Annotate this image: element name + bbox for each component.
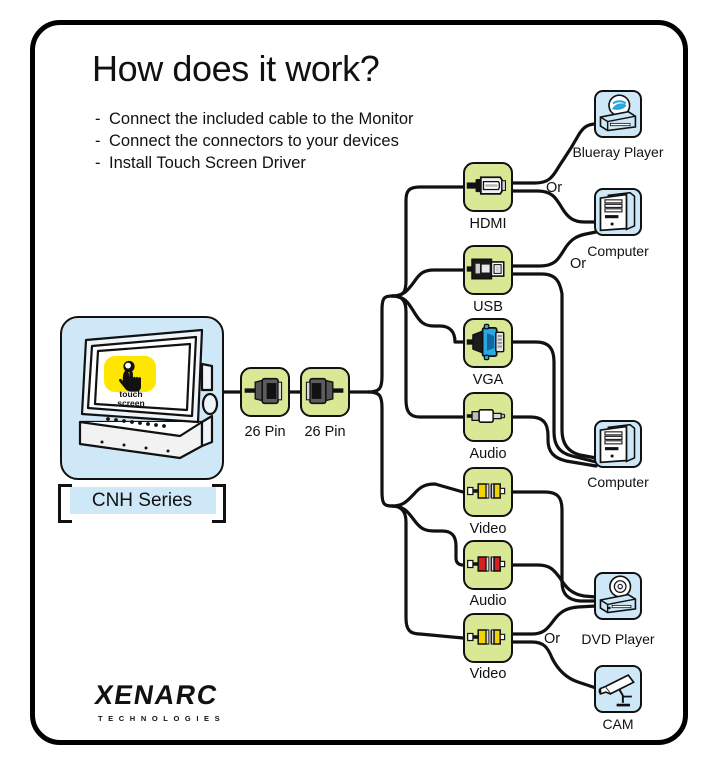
brand-logo: XENARC TECHNOLOGIES — [95, 680, 270, 723]
device-label-blueray-player: Blueray Player — [553, 144, 683, 160]
touch-screen-logo-text: touch screen — [102, 390, 160, 407]
connector-tile-26pin-2[interactable] — [300, 367, 350, 417]
rca-yellow-connector-icon — [465, 469, 509, 513]
list-item: -Connect the connectors to your devices — [95, 130, 414, 152]
or-label-hdmi: Or — [546, 180, 562, 196]
usb-connector-icon — [465, 247, 509, 291]
device-tile-dvd-player[interactable] — [594, 572, 642, 620]
series-badge: CNH Series — [58, 487, 226, 514]
computer-tower-icon — [596, 422, 639, 465]
rca-yellow-connector-icon — [465, 615, 509, 659]
connector-label-usb: USB — [443, 299, 533, 315]
connector-tile-usb[interactable] — [463, 245, 513, 295]
device-tile-computer-upper[interactable] — [594, 188, 642, 236]
connector-label-video-upper: Video — [443, 521, 533, 537]
list-item: -Connect the included cable to the Monit… — [95, 108, 414, 130]
26pin-connector-icon — [242, 369, 286, 413]
pin-label-2: 26 Pin — [290, 424, 360, 440]
list-item: -Install Touch Screen Driver — [95, 152, 414, 174]
bullet-dash: - — [95, 152, 109, 174]
device-tile-computer-lower[interactable] — [594, 420, 642, 468]
logo-line-2: screen — [117, 398, 144, 408]
brand-tagline: TECHNOLOGIES — [95, 714, 270, 723]
blueray-player-icon — [596, 92, 639, 135]
connector-label-video-lower: Video — [443, 666, 533, 682]
security-camera-icon — [596, 667, 639, 710]
connector-tile-hdmi[interactable] — [463, 162, 513, 212]
series-label-text: CNH Series — [58, 487, 226, 514]
device-label-cam: CAM — [553, 716, 683, 732]
page-title: How does it work? — [92, 48, 379, 90]
touch-screen-logo: touch screen — [104, 356, 156, 400]
list-item-label: Connect the included cable to the Monito… — [109, 110, 414, 128]
connector-label-vga: VGA — [443, 372, 533, 388]
audio-jack-connector-icon — [465, 394, 509, 438]
dvd-player-icon — [596, 574, 639, 617]
instruction-list: -Connect the included cable to the Monit… — [95, 108, 414, 174]
list-item-label: Install Touch Screen Driver — [109, 154, 306, 172]
device-tile-cam[interactable] — [594, 665, 642, 713]
connector-label-audio-upper: Audio — [443, 446, 533, 462]
connector-tile-audio-lower[interactable] — [463, 540, 513, 590]
brand-name: XENARC — [93, 680, 273, 711]
26pin-connector-icon — [302, 369, 346, 413]
rca-red-connector-icon — [465, 542, 509, 586]
bullet-dash: - — [95, 130, 109, 152]
hdmi-connector-icon — [465, 164, 509, 208]
vga-connector-icon — [465, 320, 509, 364]
connector-tile-vga[interactable] — [463, 318, 513, 368]
connector-label-hdmi: HDMI — [443, 216, 533, 232]
monitor-illustration-panel: touch screen — [60, 316, 224, 480]
connector-tile-audio-jack[interactable] — [463, 392, 513, 442]
bullet-dash: - — [95, 108, 109, 130]
connector-tile-video-lower[interactable] — [463, 613, 513, 663]
connector-tile-video-upper[interactable] — [463, 467, 513, 517]
device-label-computer-upper: Computer — [553, 243, 683, 259]
connector-tile-26pin-1[interactable] — [240, 367, 290, 417]
computer-tower-icon — [596, 190, 639, 233]
device-label-computer-lower: Computer — [553, 474, 683, 490]
connector-label-audio-lower: Audio — [443, 593, 533, 609]
device-tile-blueray-player[interactable] — [594, 90, 642, 138]
list-item-label: Connect the connectors to your devices — [109, 132, 399, 150]
device-label-dvd-player: DVD Player — [553, 631, 683, 647]
